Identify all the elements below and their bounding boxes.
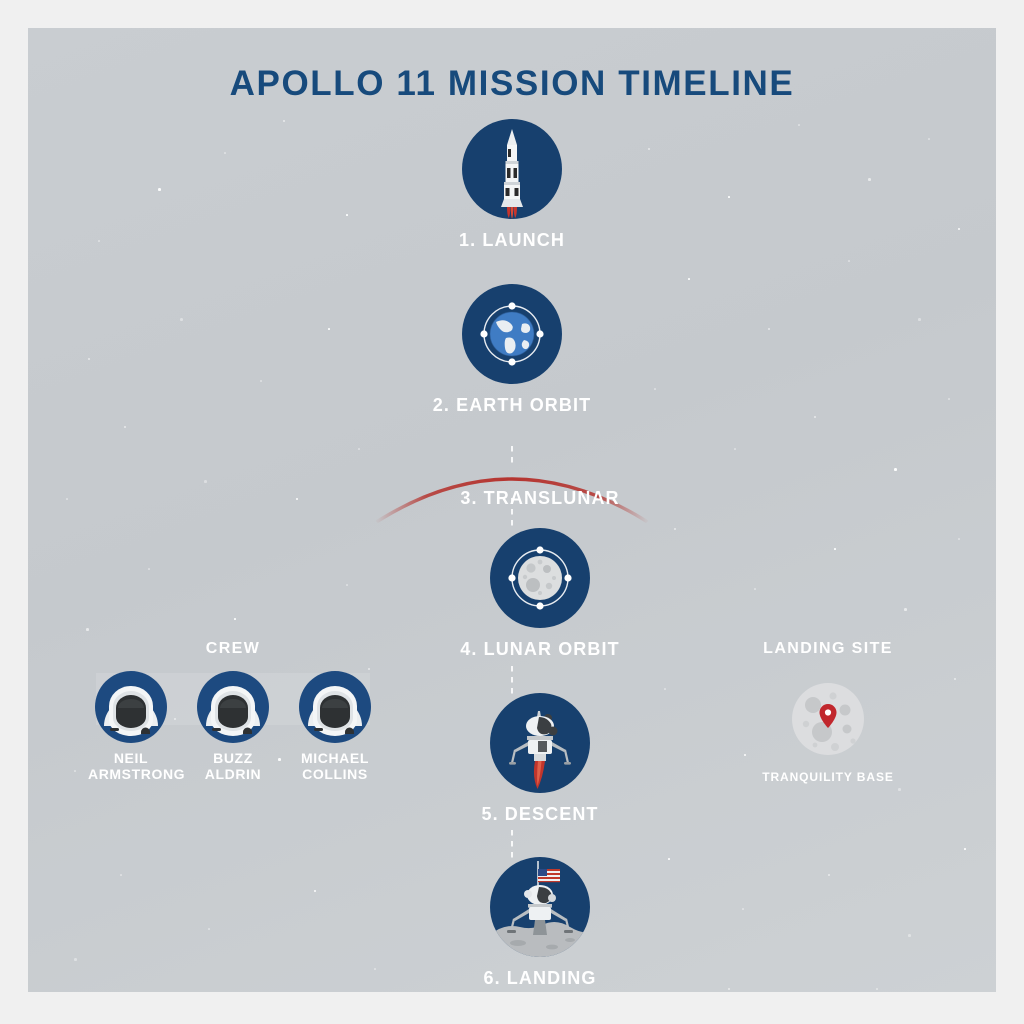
timeline-step-label: 3. TRANSLUNAR bbox=[435, 488, 645, 509]
timeline-step-label: 6. LANDING bbox=[435, 968, 645, 989]
landing-site-caption: TRANQUILITY BASE bbox=[723, 770, 933, 784]
timeline-step-translunar[interactable]: 3. TRANSLUNAR bbox=[435, 477, 645, 509]
crew-name-line2: COLLINS bbox=[302, 766, 368, 782]
lunar-module-descent-icon bbox=[490, 780, 590, 793]
saturn-v-rocket-icon bbox=[462, 206, 562, 219]
timeline-step-label: 1. LAUNCH bbox=[407, 230, 617, 251]
descent-disc bbox=[490, 693, 590, 793]
timeline-step-landing[interactable]: 6. LANDING bbox=[435, 857, 645, 989]
landing-site-heading: LANDING SITE bbox=[723, 640, 933, 658]
crew-name-line1: MICHAEL bbox=[301, 750, 369, 766]
crew-name-line1: BUZZ bbox=[213, 750, 253, 766]
launch-disc bbox=[462, 119, 562, 219]
crew-member-aldrin[interactable]: BUZZALDRIN bbox=[190, 670, 276, 782]
timeline-connector-5 bbox=[511, 830, 513, 860]
crew-panel: CREW NEILARMSTRONG bbox=[88, 640, 378, 782]
crew-member-name: MICHAELCOLLINS bbox=[292, 750, 378, 782]
lunar-orbit-disc bbox=[490, 528, 590, 628]
landing-disc bbox=[490, 857, 590, 957]
timeline-step-label: 5. DESCENT bbox=[435, 804, 645, 825]
earth-orbit-icon bbox=[462, 371, 562, 384]
crew-member-collins[interactable]: MICHAELCOLLINS bbox=[292, 670, 378, 782]
astronaut-helmet-icon bbox=[94, 670, 168, 744]
crew-member-armstrong[interactable]: NEILARMSTRONG bbox=[88, 670, 174, 782]
crew-list: NEILARMSTRONG BUZZALDRIN bbox=[88, 670, 378, 782]
astronaut-helmet-icon bbox=[196, 670, 270, 744]
landing-site-panel: LANDING SITE TRANQUILITY BASE bbox=[723, 640, 933, 784]
astronaut-helmet-icon bbox=[298, 670, 372, 744]
crew-heading: CREW bbox=[88, 640, 378, 658]
timeline-step-earth-orbit[interactable]: 2. EARTH ORBIT bbox=[407, 284, 617, 416]
timeline-connector-4 bbox=[511, 666, 513, 696]
timeline-step-lunar-orbit[interactable]: 4. LUNAR ORBIT bbox=[435, 528, 645, 660]
timeline-step-launch[interactable]: 1. LAUNCH bbox=[407, 119, 617, 251]
timeline-step-descent[interactable]: 5. DESCENT bbox=[435, 693, 645, 825]
timeline-step-label: 2. EARTH ORBIT bbox=[407, 395, 617, 416]
crew-name-line2: ALDRIN bbox=[205, 766, 261, 782]
crew-name-line2: ARMSTRONG bbox=[88, 766, 185, 782]
infographic-poster: APOLLO 11 MISSION TIMELINE bbox=[28, 28, 996, 992]
timeline-step-label: 4. LUNAR ORBIT bbox=[435, 639, 645, 660]
crew-member-name: BUZZALDRIN bbox=[190, 750, 276, 782]
crew-member-name: NEILARMSTRONG bbox=[88, 750, 174, 782]
moon-with-map-pin-icon[interactable] bbox=[789, 680, 867, 758]
lunar-module-landed-flag-icon bbox=[490, 944, 590, 957]
mission-timeline: 1. LAUNCH bbox=[28, 28, 996, 992]
crew-name-line1: NEIL bbox=[114, 750, 148, 766]
earth-orbit-disc bbox=[462, 284, 562, 384]
moon-orbit-icon bbox=[490, 615, 590, 628]
